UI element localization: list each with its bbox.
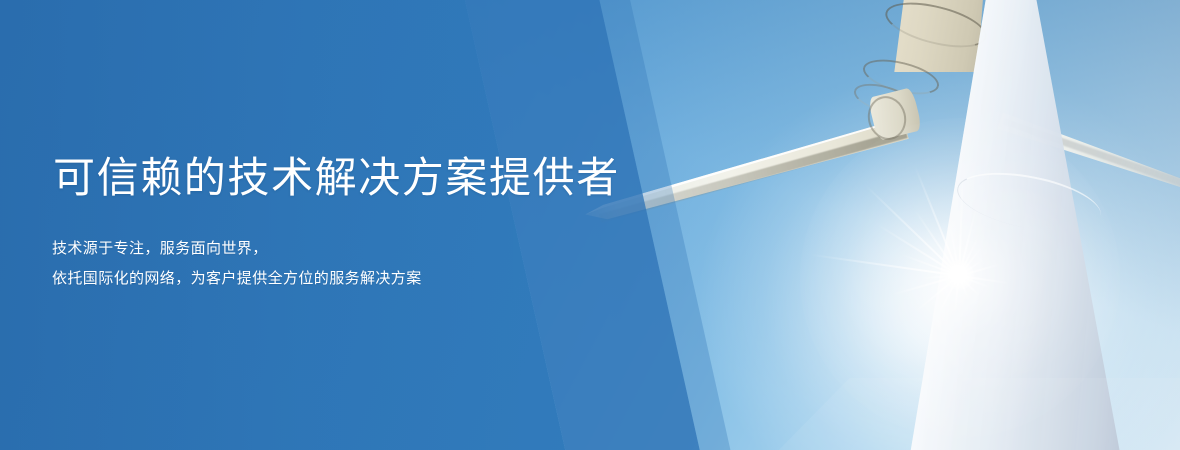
banner-text-block: 可信赖的技术解决方案提供者 技术源于专注，服务面向世界， 依托国际化的网络，为客… (52, 0, 612, 450)
banner-subtitle-line-2: 依托国际化的网络，为客户提供全方位的服务解决方案 (52, 264, 612, 294)
banner-subtitle-line-1: 技术源于专注，服务面向世界， (52, 234, 612, 264)
sun-core (944, 260, 974, 290)
hero-banner: 可信赖的技术解决方案提供者 技术源于专注，服务面向世界， 依托国际化的网络，为客… (0, 0, 1180, 450)
banner-headline: 可信赖的技术解决方案提供者 (53, 156, 612, 201)
